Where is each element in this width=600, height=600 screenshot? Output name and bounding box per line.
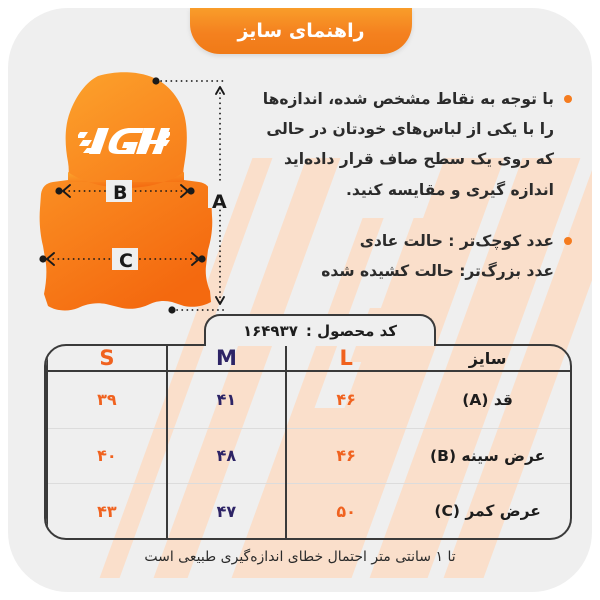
product-code-value: ۱۶۴۹۳۷ — [243, 322, 298, 340]
product-code-badge: کد محصول : ۱۶۴۹۳۷ — [204, 314, 436, 346]
product-code-label: کد محصول : — [306, 322, 397, 340]
table-row: عرض کمر (C) ۵۰ ۴۷ ۴۳ — [47, 484, 570, 538]
cell-b-M: ۴۸ — [167, 428, 286, 484]
instruction-line: عدد کوچک‌تر : حالت عادی — [222, 226, 554, 256]
table-row: قد (A) ۴۶ ۴۱ ۳۹ — [47, 371, 570, 428]
garment-illustration — [34, 70, 234, 315]
cell-a-M: ۴۱ — [167, 371, 286, 428]
bullet-dot-icon — [564, 95, 572, 103]
header-cell-S: S — [47, 346, 167, 371]
brand-g-logo — [78, 120, 170, 160]
table-header-row: سایز L M S — [47, 346, 570, 371]
cell-a-L: ۴۶ — [286, 371, 405, 428]
header-badge: راهنمای سایز — [190, 8, 412, 54]
dimension-label-C: C — [119, 250, 133, 272]
page-title: راهنمای سایز — [237, 20, 364, 42]
cell-a-S: ۳۹ — [47, 371, 167, 428]
cell-c-M: ۴۷ — [167, 484, 286, 538]
footer-note: تا ۱ سانتی متر احتمال خطای اندازه‌گیری ط… — [8, 549, 592, 565]
instruction-line: عدد بزرگ‌تر: حالت کشیده شده — [222, 256, 554, 286]
instruction-line: با توجه به نقاط مشخص شده، اندازه‌ها — [222, 84, 554, 114]
instructions-block: با توجه به نقاط مشخص شده، اندازه‌ها را ب… — [222, 84, 574, 290]
cell-b-S: ۴۰ — [47, 428, 167, 484]
instruction-line: را با یکی از لباس‌های خودتان در حالی — [222, 114, 554, 144]
header-cell-M: M — [167, 346, 286, 371]
instruction-line: که روی یک سطح صاف قرار داده‌اید — [222, 144, 554, 174]
instruction-line: اندازه گیری و مقایسه کنید. — [222, 175, 554, 205]
instruction-bullet-2: عدد کوچک‌تر : حالت عادی عدد بزرگ‌تر: حال… — [222, 226, 574, 286]
cell-c-L: ۵۰ — [286, 484, 405, 538]
row-label-b: عرض سینه (B) — [405, 428, 570, 484]
cell-c-S: ۴۳ — [47, 484, 167, 538]
table-row: عرض سینه (B) ۴۶ ۴۸ ۴۰ — [47, 428, 570, 484]
cell-b-L: ۴۶ — [286, 428, 405, 484]
size-guide-card: راهنمای سایز — [8, 8, 592, 592]
row-label-c: عرض کمر (C) — [405, 484, 570, 538]
dimension-label-B: B — [113, 182, 127, 204]
instruction-bullet-1: با توجه به نقاط مشخص شده، اندازه‌ها را ب… — [222, 84, 574, 205]
bullet-dot-icon — [564, 237, 572, 245]
size-table: سایز L M S قد (A) ۴۶ ۴۱ ۳۹ عرض سینه (B) … — [44, 344, 572, 540]
header-cell-size: سایز — [405, 346, 570, 371]
header-cell-L: L — [286, 346, 405, 371]
row-label-a: قد (A) — [405, 371, 570, 428]
